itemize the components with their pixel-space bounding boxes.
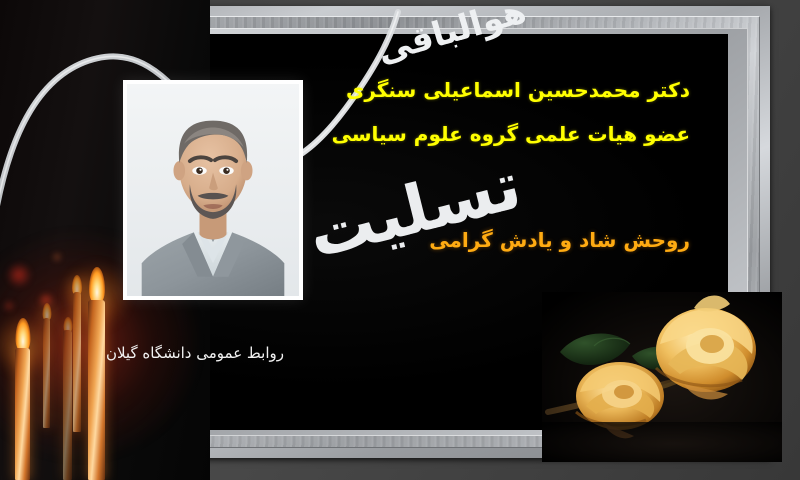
blessing-text: روحش شاد و یادش گرامی: [429, 228, 690, 252]
calligraphy-top-text: هوالباقی: [378, 0, 528, 70]
deceased-title: عضو هیات علمی گروه علوم سیاسی: [332, 122, 690, 146]
candle-front-left: [15, 348, 30, 480]
candle-mid: [63, 330, 72, 480]
publisher-credit: روابط عمومی دانشگاه گیلان: [106, 344, 284, 362]
calligraphy-hoval-baghi: هوالباقی: [378, 0, 528, 70]
calligraphy-tasliyat: تسلیت: [300, 150, 530, 270]
red-bokeh-3: [3, 300, 15, 312]
red-bokeh-1: [6, 262, 32, 288]
portrait-photo: [123, 80, 303, 300]
candle-front-right: [88, 300, 105, 480]
yellow-roses: [542, 292, 782, 462]
calligraphy-center-text: تسلیت: [301, 150, 529, 270]
red-bokeh-4: [52, 252, 62, 262]
deceased-name: دکتر محمدحسین اسماعیلی سنگری: [346, 78, 690, 102]
memorial-poster: هوالباقی تسلیت: [0, 0, 800, 480]
portrait-image: [127, 84, 299, 296]
